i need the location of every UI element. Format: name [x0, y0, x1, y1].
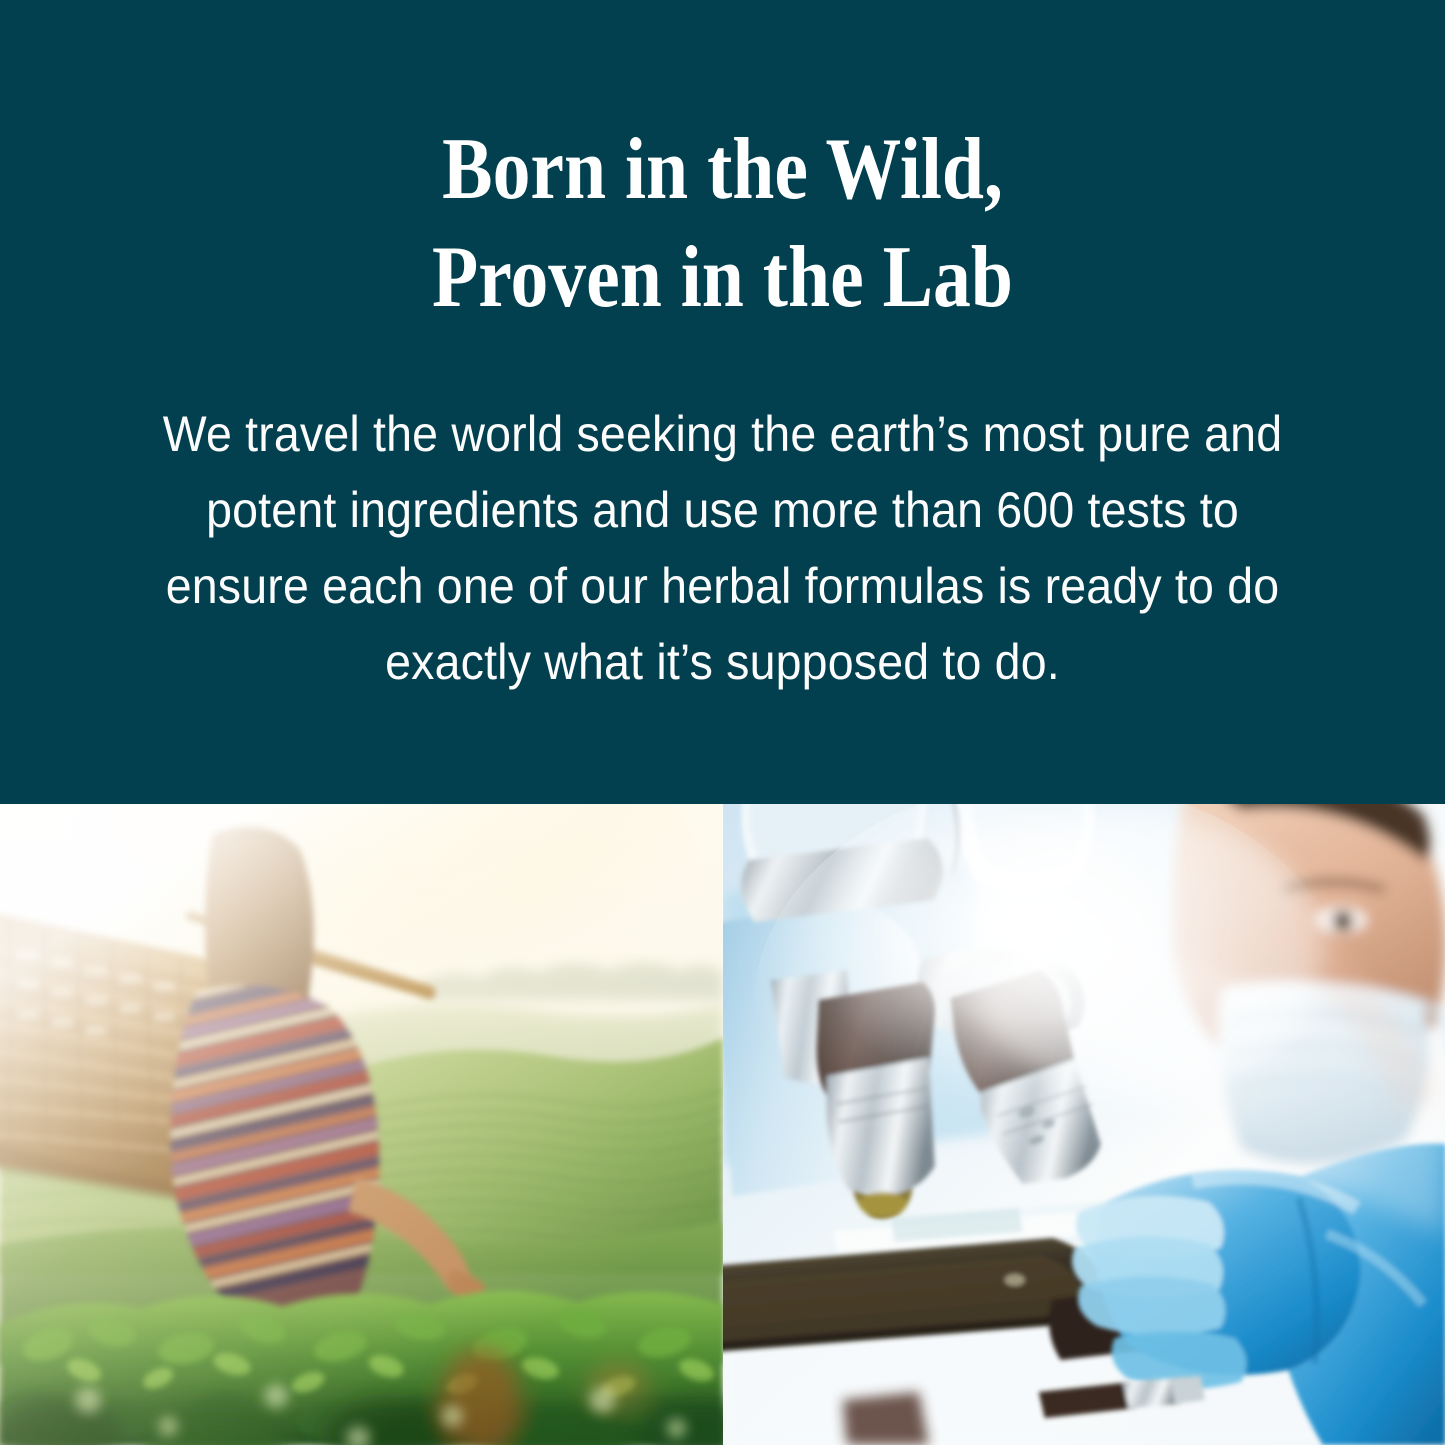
page-title: Born in the Wild, Proven in the Lab: [101, 116, 1344, 332]
text-panel: Born in the Wild, Proven in the Lab We t…: [0, 0, 1445, 804]
lab-microscope-photo: [723, 804, 1445, 1445]
tea-harvester-photo: [0, 804, 723, 1445]
brand-promo-card: Born in the Wild, Proven in the Lab We t…: [0, 0, 1445, 1445]
photo-strip: [0, 804, 1445, 1445]
body-copy: We travel the world seeking the earth’s …: [139, 396, 1306, 700]
